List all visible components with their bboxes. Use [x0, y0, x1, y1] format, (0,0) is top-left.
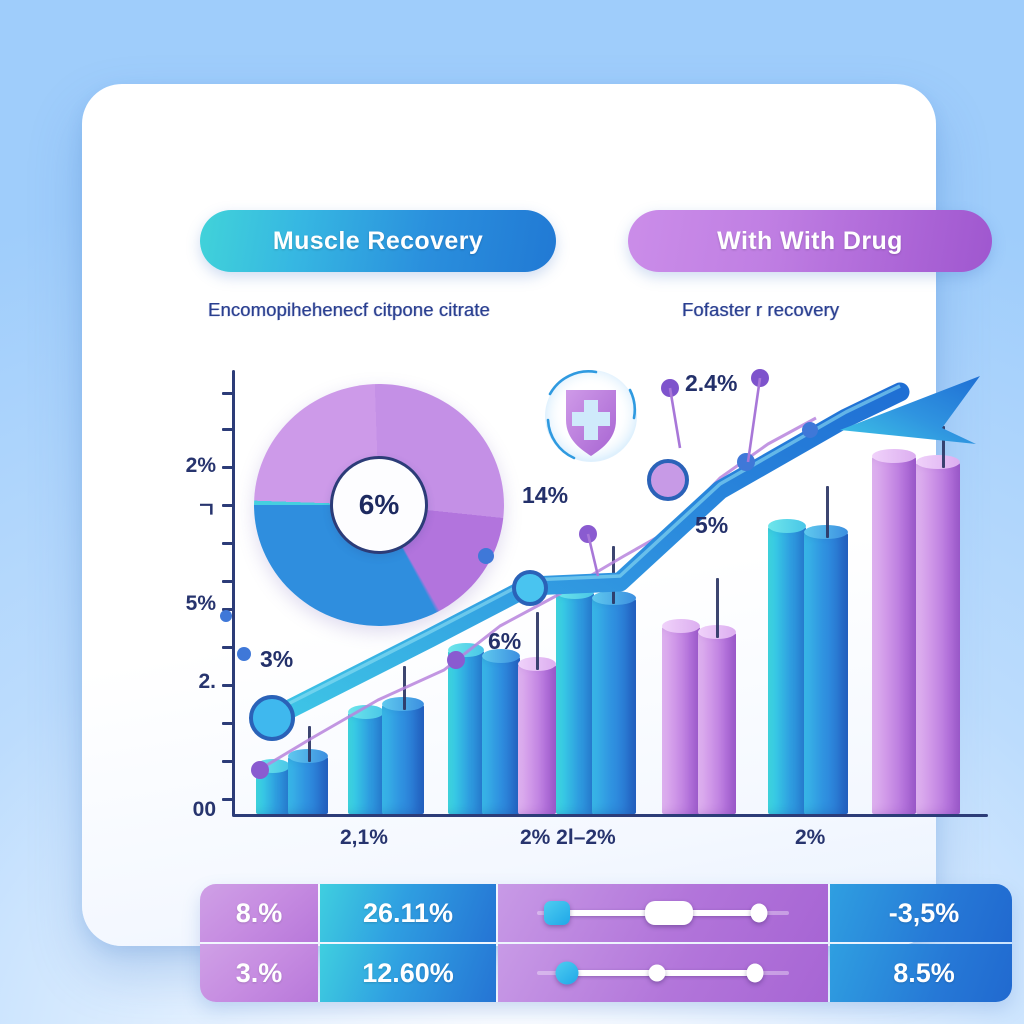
pill-left-label: Muscle Recovery	[273, 227, 483, 256]
pill-right-label: With With Drug	[717, 227, 903, 256]
data-label-3pct: 3%	[260, 646, 293, 673]
data-label-5pct: 5%	[695, 512, 728, 539]
slider-knob-left[interactable]	[544, 901, 570, 925]
subtitle-right: Fofaster r recovery	[682, 299, 839, 321]
summary-table: 8.% 26.11% -3,5% 3.% 12.60%	[200, 884, 1012, 1002]
x-axis-label: 2,1%	[340, 826, 388, 850]
table-cell-r2c2[interactable]: 12.60%	[320, 944, 496, 1002]
slider-knob-middle[interactable]	[645, 901, 693, 925]
x-axis-label: 2%	[795, 826, 825, 850]
slider-knob-right[interactable]	[751, 904, 768, 923]
trend-arrow-overlay	[200, 370, 990, 818]
table-cell-r1c1[interactable]: 8.%	[200, 884, 318, 942]
slider-knob-right[interactable]	[747, 964, 764, 983]
table-cell-r1c2[interactable]: 26.11%	[320, 884, 496, 942]
table-cell-r2c1[interactable]: 3.%	[200, 944, 318, 1002]
table-cell-r1c4[interactable]: -3,5%	[830, 884, 1012, 942]
pill-with-drug[interactable]: With With Drug	[628, 210, 992, 272]
table-cell-r2c4[interactable]: 8.5%	[830, 944, 1012, 1002]
slider-knob-middle[interactable]	[649, 965, 666, 982]
x-axis-label: 2% 2l–2%	[520, 826, 616, 850]
pill-muscle-recovery[interactable]: Muscle Recovery	[200, 210, 556, 272]
chart-plot-area: 2% ㄱ 5% 2. 00 2,1% 2% 2l–2% 2%	[200, 370, 990, 818]
slider-row1[interactable]	[537, 902, 789, 924]
data-label-24pct: 2.4%	[685, 370, 737, 397]
infographic-canvas: Muscle Recovery With With Drug Encomopih…	[0, 0, 1024, 1024]
data-label-14pct: 14%	[522, 482, 568, 509]
table-cell-r2-slider[interactable]	[498, 944, 828, 1002]
slider-knob-left[interactable]	[556, 962, 579, 985]
table-cell-r1-slider[interactable]	[498, 884, 828, 942]
main-card: Muscle Recovery With With Drug Encomopih…	[82, 84, 936, 946]
data-label-6pct: 6%	[488, 628, 521, 655]
slider-row2[interactable]	[537, 962, 789, 984]
subtitle-left: Encomopihehenecf citpone citrate	[208, 299, 490, 321]
